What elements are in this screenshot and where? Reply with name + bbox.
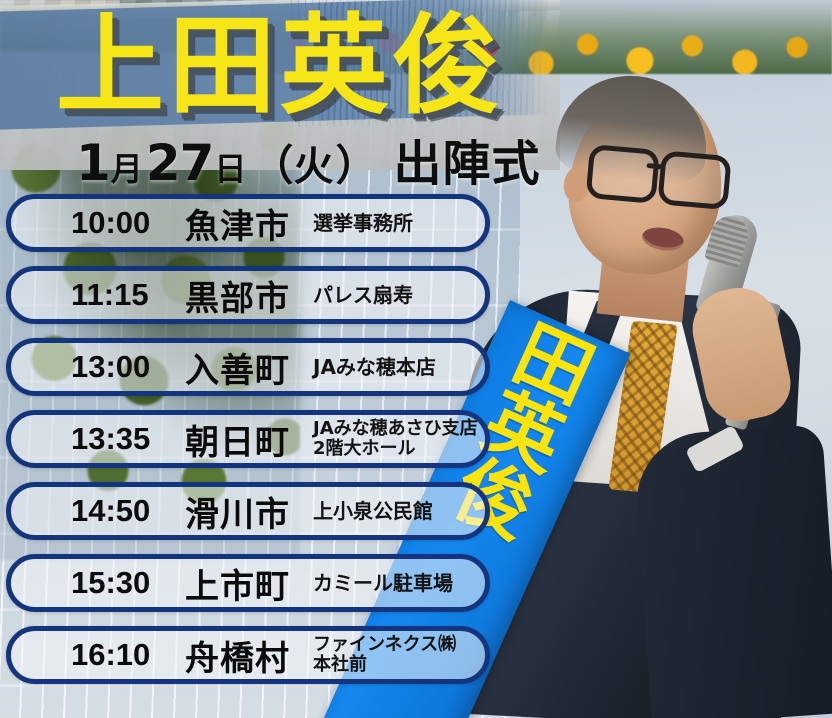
schedule-row: 16:10舟橋村ファインネクス㈱本社前	[6, 626, 490, 684]
paren-close: ）	[335, 132, 375, 193]
event-day-number: 27	[146, 134, 214, 192]
schedule-time: 13:00	[71, 349, 179, 385]
arm	[632, 424, 832, 718]
schedule-venue: ファインネクス㈱本社前	[313, 635, 456, 675]
page-title: 上田英俊	[56, 10, 504, 124]
schedule-time: 11:15	[71, 277, 179, 313]
schedule-row: 10:00魚津市選挙事務所	[6, 194, 490, 252]
schedule-venue-line: 本社前	[313, 655, 456, 675]
schedule-list: 10:00魚津市選挙事務所11:15黒部市パレス扇寿13:00入善町JAみな穂本…	[6, 194, 506, 698]
schedule-venue: パレス扇寿	[313, 284, 413, 306]
schedule-row: 14:50滑川市上小泉公民館	[6, 482, 490, 540]
schedule-venue: 上小泉公民館	[313, 500, 433, 522]
event-day-unit: 日	[214, 144, 246, 190]
schedule-city: 魚津市	[185, 199, 303, 248]
event-name: 出陣式	[393, 124, 540, 194]
schedule-venue-line: ファインネクス㈱	[313, 635, 456, 655]
schedule-venue: 選挙事務所	[313, 212, 413, 234]
schedule-row: 13:35朝日町JAみな穂あさひ支店2階大ホール	[6, 410, 490, 468]
event-month-number: 1	[76, 134, 110, 192]
schedule-venue: JAみな穂本店	[313, 356, 436, 378]
schedule-venue: JAみな穂あさひ支店2階大ホール	[313, 419, 478, 459]
schedule-time: 10:00	[71, 205, 179, 241]
lens-left	[586, 144, 660, 204]
schedule-venue: カミール駐車場	[313, 572, 453, 594]
schedule-time: 15:30	[71, 565, 179, 601]
event-day-of-week: 火	[293, 134, 333, 192]
event-month-unit: 月	[111, 144, 143, 190]
schedule-row: 11:15黒部市パレス扇寿	[6, 266, 490, 324]
schedule-time: 16:10	[71, 637, 179, 673]
schedule-city: 舟橋村	[185, 631, 303, 680]
paren-open: （	[251, 132, 291, 193]
schedule-venue-line: カミール駐車場	[313, 572, 453, 594]
schedule-time: 13:35	[71, 421, 179, 457]
schedule-city: 朝日町	[185, 415, 303, 464]
schedule-venue-line: パレス扇寿	[313, 284, 413, 306]
schedule-city: 滑川市	[185, 487, 303, 536]
schedule-venue-line: 2階大ホール	[313, 439, 478, 459]
schedule-city: 上市町	[185, 559, 303, 608]
schedule-time: 14:50	[71, 493, 179, 529]
event-date-line: 1 月 27 日 （ 火 ） 出陣式	[76, 124, 540, 194]
campaign-poster: 田 英 俊 上田英俊 1 月 27 日 （ 火 ） 出陣式 10:00魚津市選挙…	[0, 0, 832, 718]
schedule-city: 黒部市	[185, 271, 303, 320]
lens-right	[657, 150, 731, 210]
schedule-venue-line: 選挙事務所	[313, 212, 413, 234]
schedule-row: 13:00入善町JAみな穂本店	[6, 338, 490, 396]
schedule-venue-line: JAみな穂あさひ支店	[313, 419, 478, 439]
schedule-row: 15:30上市町カミール駐車場	[6, 554, 490, 612]
schedule-city: 入善町	[185, 343, 303, 392]
schedule-venue-line: JAみな穂本店	[313, 356, 436, 378]
schedule-venue-line: 上小泉公民館	[313, 500, 433, 522]
